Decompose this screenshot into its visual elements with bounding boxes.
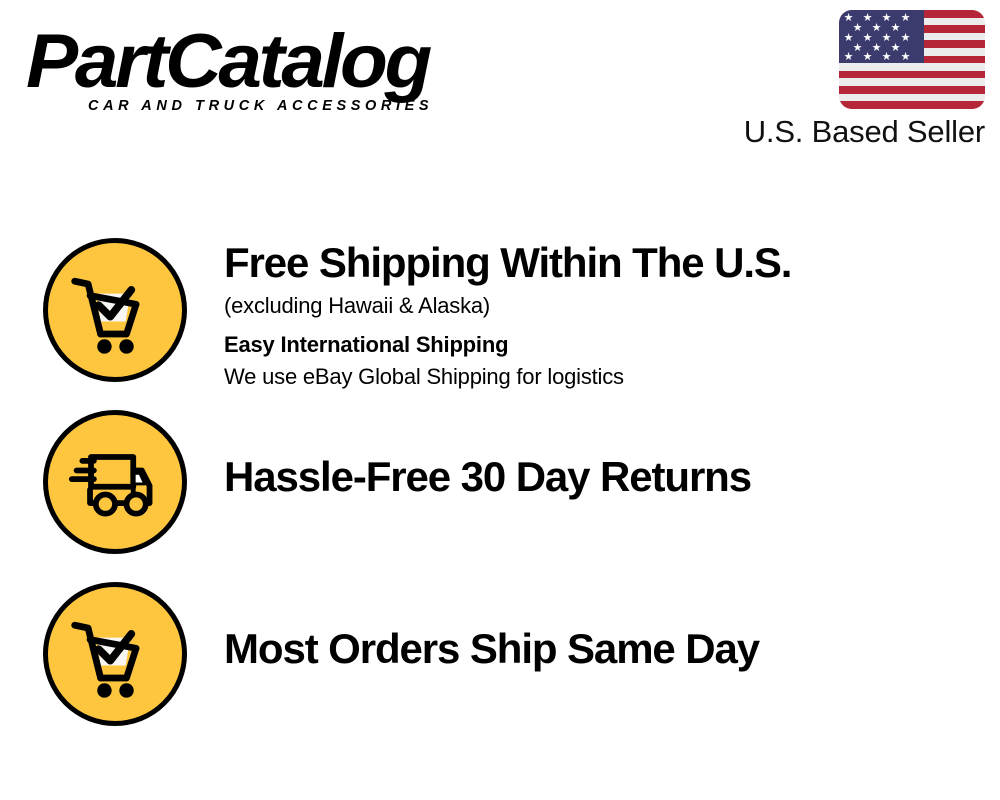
banner-header: PartCatalog CAR AND TRUCK ACCESSORIES (0, 0, 1000, 180)
flag-star: ★ (881, 52, 892, 63)
flag-stripe (839, 86, 985, 94)
promo-banner: PartCatalog CAR AND TRUCK ACCESSORIES (0, 0, 1000, 800)
flag-stripe (839, 94, 985, 102)
feature-text: Free Shipping Within The U.S. (excluding… (224, 238, 1000, 393)
feature-row: Most Orders Ship Same Day (0, 582, 1000, 752)
flag-canton: ★ ★ ★ ★ ★ ★ ★ ★ ★ ★ ★ ★ ★ ★ ★ ★ ★ (839, 10, 924, 63)
feature-title: Hassle-Free 30 Day Returns (224, 452, 1000, 502)
brand-wordmark: PartCatalog (26, 24, 429, 100)
brand-tagline: CAR AND TRUCK ACCESSORIES (88, 98, 433, 114)
feature-detail-text: We use eBay Global Shipping for logistic… (224, 361, 1000, 393)
flag-star: ★ (900, 52, 911, 63)
shopping-cart-check-icon (43, 238, 187, 382)
feature-text: Hassle-Free 30 Day Returns (224, 410, 1000, 502)
flag-stripe (839, 101, 985, 109)
feature-subtitle: (excluding Hawaii & Alaska) (224, 290, 1000, 322)
flag-star: ★ (843, 52, 854, 63)
flag-star: ★ (900, 33, 911, 44)
flag-star: ★ (900, 13, 911, 24)
flag-star: ★ (862, 52, 873, 63)
feature-title: Free Shipping Within The U.S. (224, 238, 1000, 288)
us-flag-icon: ★ ★ ★ ★ ★ ★ ★ ★ ★ ★ ★ ★ ★ ★ ★ ★ ★ (839, 10, 985, 109)
shopping-cart-check-icon (43, 582, 187, 726)
delivery-truck-icon (43, 410, 187, 554)
us-based-seller-label: U.S. Based Seller (744, 113, 985, 151)
flag-stripe (839, 71, 985, 79)
feature-title: Most Orders Ship Same Day (224, 624, 1000, 674)
feature-row: Hassle-Free 30 Day Returns (0, 410, 1000, 580)
flag-stripe (839, 63, 985, 71)
flag-stripe (839, 78, 985, 86)
feature-row: Free Shipping Within The U.S. (excluding… (0, 238, 1000, 408)
feature-detail-heading: Easy International Shipping (224, 329, 1000, 361)
us-based-seller-badge: ★ ★ ★ ★ ★ ★ ★ ★ ★ ★ ★ ★ ★ ★ ★ ★ ★ (725, 10, 985, 155)
partcatalog-logo: PartCatalog CAR AND TRUCK ACCESSORIES (26, 24, 496, 119)
feature-text: Most Orders Ship Same Day (224, 582, 1000, 674)
